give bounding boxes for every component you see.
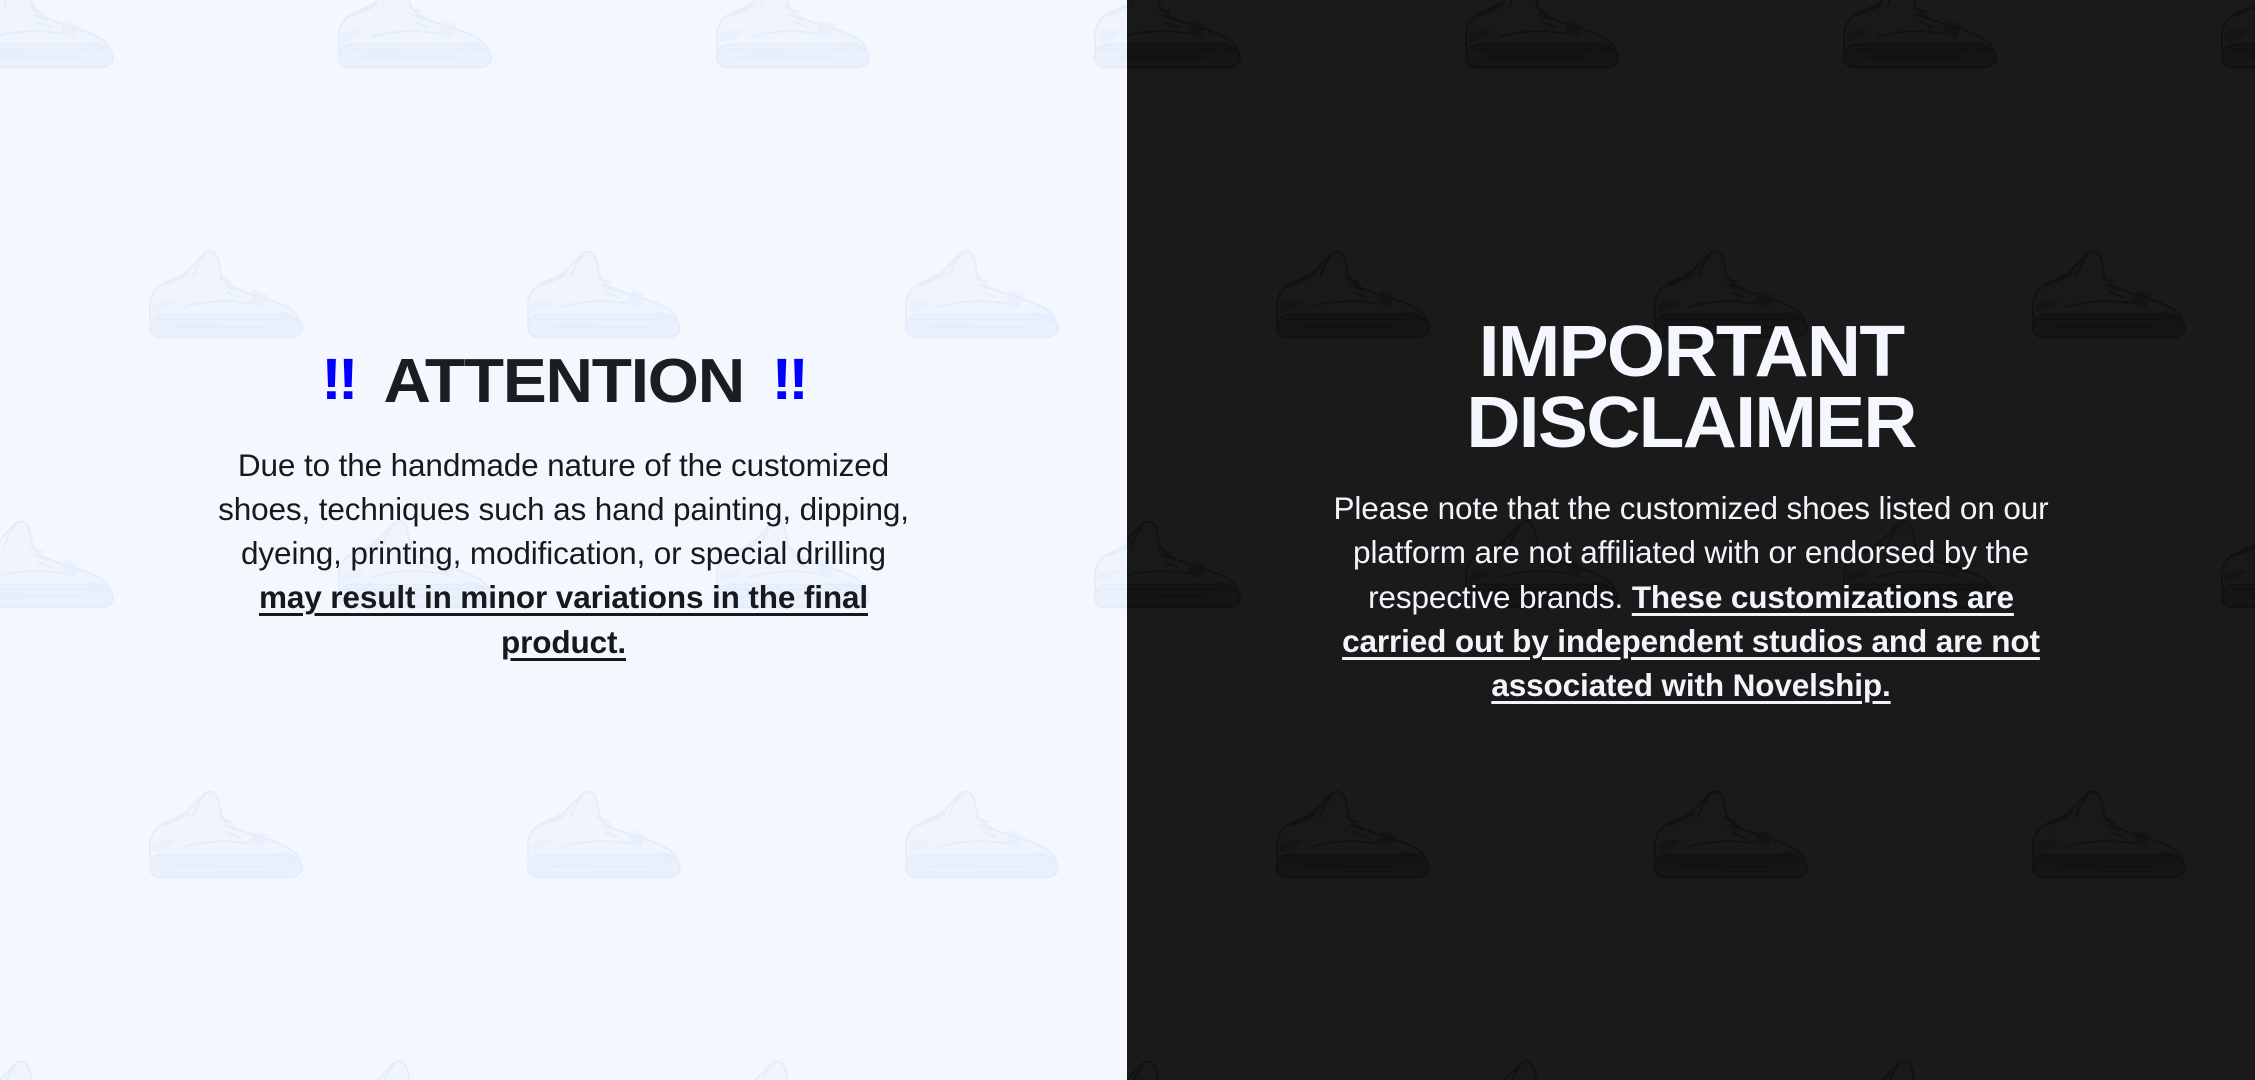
attention-content: ‼ ATTENTION ‼ Due to the handmade nature…: [0, 0, 1127, 664]
attention-panel: ‼ ATTENTION ‼ Due to the handmade nature…: [0, 0, 1127, 1080]
attention-body: Due to the handmade nature of the custom…: [214, 443, 914, 664]
disclaimer-heading-line1: IMPORTANT: [1479, 318, 1904, 387]
attention-body-normal: Due to the handmade nature of the custom…: [218, 447, 909, 572]
double-exclamation-right-icon: ‼: [771, 351, 806, 409]
attention-heading-text: ATTENTION: [383, 352, 744, 412]
attention-heading: ‼ ATTENTION ‼: [321, 352, 806, 412]
attention-body-emphasis: may result in minor variations in the fi…: [259, 579, 868, 659]
disclaimer-panel: IMPORTANT DISCLAIMER Please note that th…: [1127, 0, 2255, 1080]
disclaimer-heading: IMPORTANT DISCLAIMER: [1466, 318, 1915, 458]
disclaimer-content: IMPORTANT DISCLAIMER Please note that th…: [1127, 0, 2255, 707]
double-exclamation-left-icon: ‼: [321, 351, 356, 409]
disclaimer-heading-line2: DISCLAIMER: [1466, 389, 1915, 458]
disclaimer-body: Please note that the customized shoes li…: [1329, 486, 2054, 707]
disclaimer-banner: ‼ ATTENTION ‼ Due to the handmade nature…: [0, 0, 2255, 1080]
